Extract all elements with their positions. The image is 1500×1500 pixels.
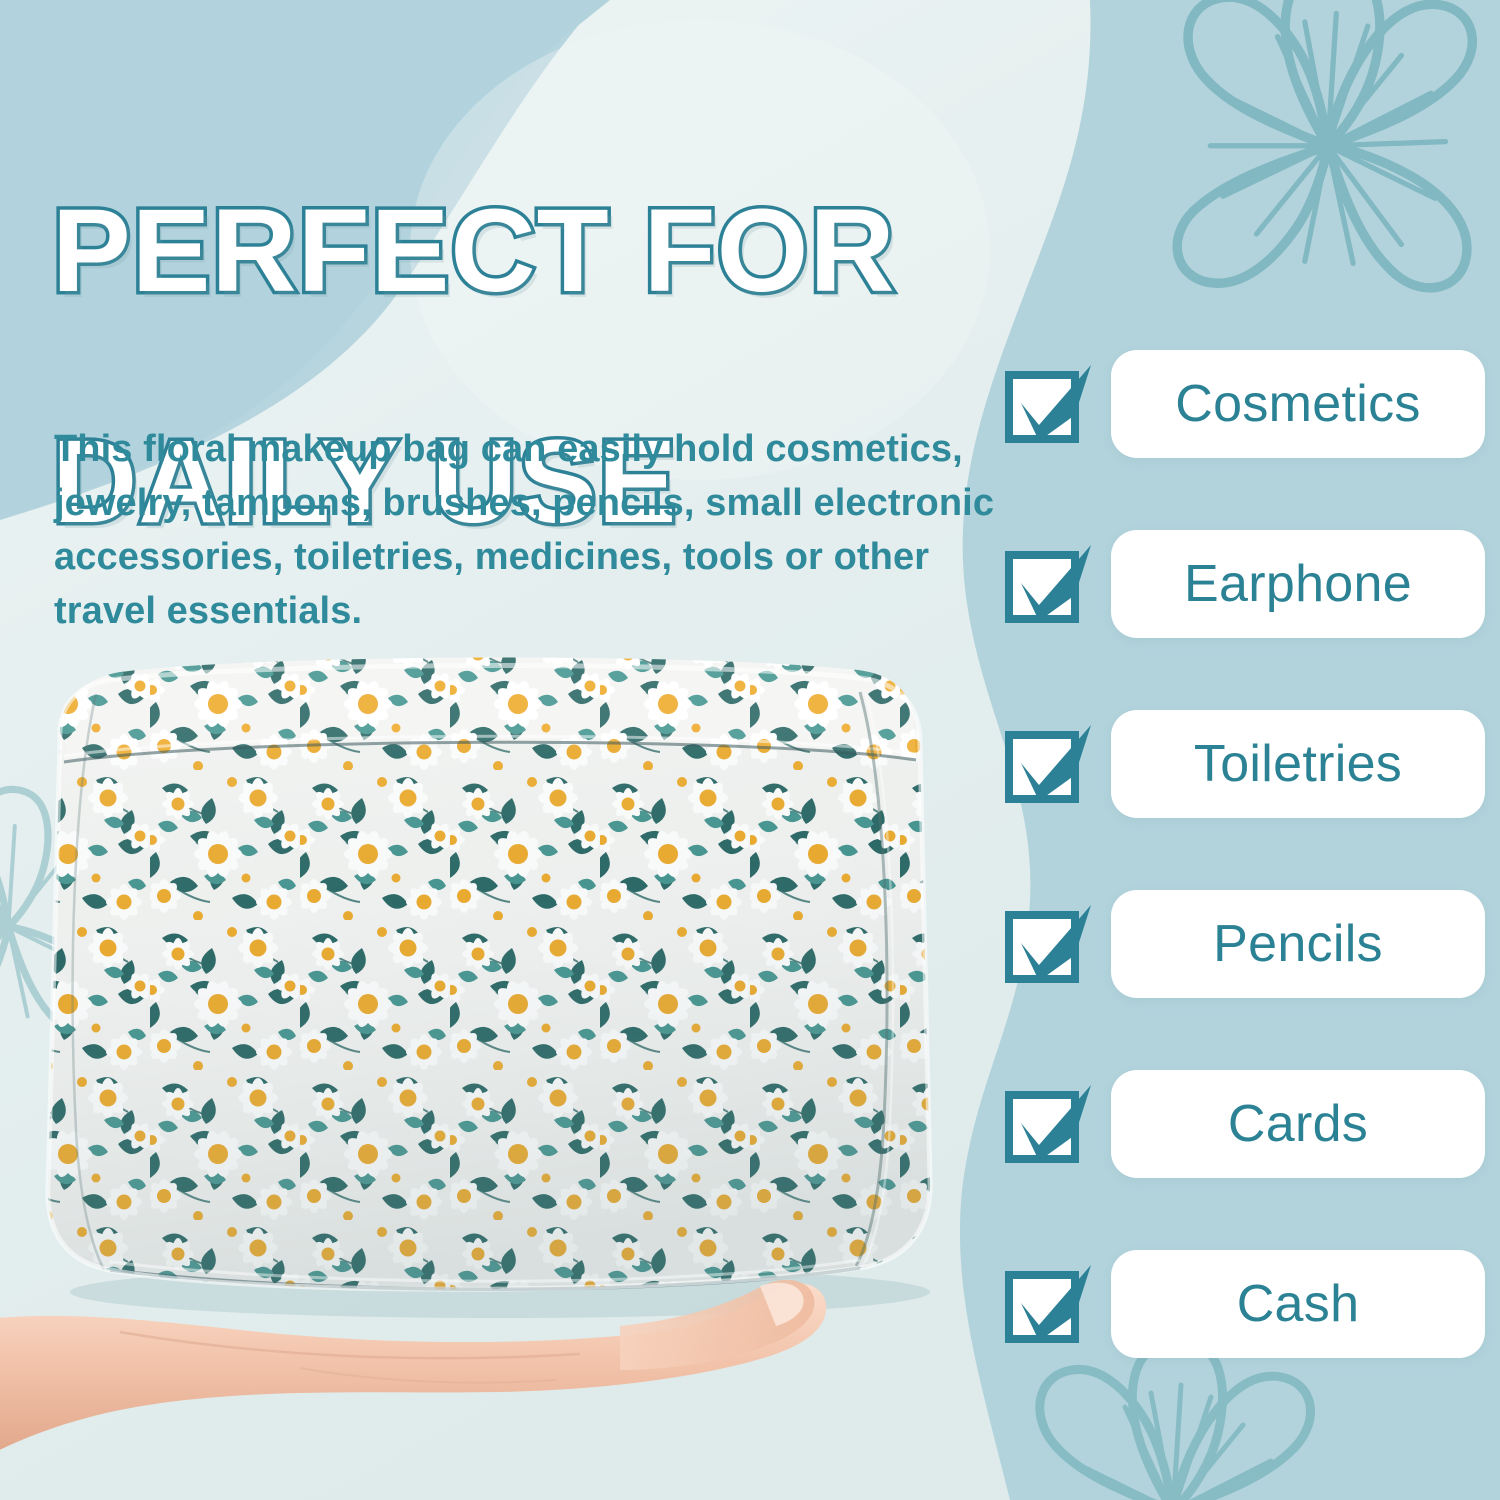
headline-line-1: PERFECT FOR: [52, 194, 1052, 310]
checklist-pill[interactable]: Cosmetics: [1111, 350, 1485, 458]
checkbox-checked-icon[interactable]: [1005, 363, 1097, 445]
checklist-label: Cosmetics: [1175, 374, 1420, 434]
checklist-pill[interactable]: Earphone: [1111, 530, 1485, 638]
checkbox-checked-icon[interactable]: [1005, 903, 1097, 985]
checkbox-checked-icon[interactable]: [1005, 543, 1097, 625]
checkbox-checked-icon[interactable]: [1005, 1263, 1097, 1345]
checkbox-checked-icon[interactable]: [1005, 1083, 1097, 1165]
checklist-pill[interactable]: Toiletries: [1111, 710, 1485, 818]
checklist-label: Cards: [1228, 1094, 1368, 1154]
checklist-label: Toiletries: [1194, 734, 1402, 794]
checklist-pill[interactable]: Pencils: [1111, 890, 1485, 998]
feature-checklist: Cosmetics Earphone Toiletr: [1005, 345, 1485, 1363]
checklist-item-cosmetics[interactable]: Cosmetics: [1005, 345, 1485, 463]
body-description: This floral makeup bag can easily hold c…: [54, 423, 1004, 639]
checkbox-checked-icon[interactable]: [1005, 723, 1097, 805]
checklist-label: Earphone: [1184, 554, 1412, 614]
checklist-item-toiletries[interactable]: Toiletries: [1005, 705, 1485, 823]
product-marketing-banner: PERFECT FOR DAILY USE This floral makeup…: [0, 0, 1500, 1500]
checklist-pill[interactable]: Cash: [1111, 1250, 1485, 1358]
checklist-pill[interactable]: Cards: [1111, 1070, 1485, 1178]
checklist-label: Pencils: [1213, 914, 1383, 974]
makeup-bag: [0, 640, 1000, 1289]
checklist-item-cards[interactable]: Cards: [1005, 1065, 1485, 1183]
checklist-label: Cash: [1237, 1274, 1360, 1334]
checklist-item-cash[interactable]: Cash: [1005, 1245, 1485, 1363]
checklist-item-earphone[interactable]: Earphone: [1005, 525, 1485, 643]
checklist-item-pencils[interactable]: Pencils: [1005, 885, 1485, 1003]
product-photo-makeup-bag: [0, 620, 1000, 1500]
